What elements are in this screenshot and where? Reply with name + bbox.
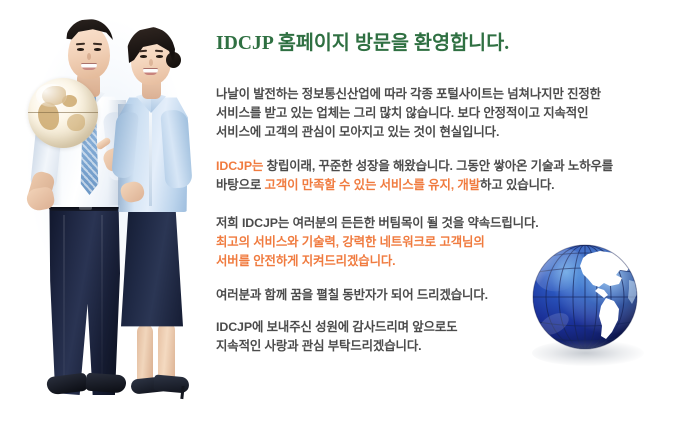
highlighted-text: IDCJP는 [216,159,263,173]
man-trouser-crease-right [101,215,103,375]
body-text: 나날이 발전하는 정보통신산업에 따라 각종 포털사이트는 넘쳐나지만 진정한 [216,87,601,101]
body-text: 하고 있습니다. [480,178,554,192]
text-line: IDCJP는 창립이래, 꾸준한 성장을 해왔습니다. 그동안 쌓아온 기술과 … [216,157,613,176]
desk-globe-landmass-south [67,114,85,131]
paragraph-promise: 저희 IDCJP는 여러분의 든든한 버팀목이 될 것을 약속드립니다.최고의 … [216,214,539,272]
body-text: 서비스에 고객의 관심이 모아지고 있는 것이 현실입니다. [216,125,499,139]
woman-nose [149,59,153,66]
globe-greenland [625,252,636,262]
text-line: 저희 IDCJP는 여러분의 든든한 버팀목이 될 것을 약속드립니다. [216,214,539,233]
woman-skirt [121,208,183,330]
body-text: 바탕으로 [216,178,265,192]
paragraph-intro: 나날이 발전하는 정보통신산업에 따라 각종 포털사이트는 넘쳐나지만 진정한서… [216,85,601,143]
text-line: 서버를 안전하게 지켜드리겠습니다. [216,252,539,271]
text-line: 나날이 발전하는 정보통신산업에 따라 각종 포털사이트는 넘쳐나지만 진정한 [216,85,601,104]
body-text: 창립이래, 꾸준한 성장을 해왔습니다. 그동안 쌓아온 기술과 노하우를 [263,159,613,173]
desk-globe-equator-line [28,112,98,113]
highlighted-text: 최고의 서비스와 기술력, 강력한 네트워크로 고객님의 [216,235,485,249]
man-eye-left [77,48,84,51]
highlighted-text: 고객이 만족할 수 있는 서비스를 유지, 개발 [265,178,481,192]
text-line: 서비스를 받고 있는 업체는 그리 많치 않습니다. 보다 안정적이고 지속적인 [216,104,601,123]
paragraph-thanks: IDCJP에 보내주신 성원에 감사드리며 앞으로도지속적인 사랑과 관심 부탁… [216,318,457,356]
paragraph-growth: IDCJP는 창립이래, 꾸준한 성장을 해왔습니다. 그동안 쌓아온 기술과 … [216,157,613,195]
business-couple-photo [0,0,215,431]
man-eye-right [94,48,101,51]
body-text: 여러분과 함께 꿈을 펼칠 동반자가 되어 드리겠습니다. [216,288,488,302]
woman-blouse-placket [149,106,152,206]
text-line: 바탕으로 고객이 만족할 수 있는 서비스를 유지, 개발하고 있습니다. [216,176,613,195]
antique-desk-globe [28,78,98,148]
body-text: IDCJP에 보내주신 성원에 감사드리며 앞으로도 [216,320,457,334]
text-line: 지속적인 사랑과 관심 부탁드리겠습니다. [216,337,457,356]
woman-leg-left [137,324,153,384]
welcome-page: IDCJP 홈페이지 방문을 환영합니다. 나날이 발전하는 정보통신산업에 따… [0,0,680,431]
text-line: IDCJP에 보내주신 성원에 감사드리며 앞으로도 [216,318,457,337]
text-line: 여러분과 함께 꿈을 펼칠 동반자가 되어 드리겠습니다. [216,286,488,305]
woman-smile [143,68,158,75]
man-shoe-right [85,373,126,394]
globe-drop-shadow [532,340,644,366]
woman-eye-left [140,55,147,58]
text-line: 서비스에 고객의 관심이 모아지고 있는 것이 현실입니다. [216,123,601,142]
text-line: 최고의 서비스와 기술력, 강력한 네트워크로 고객님의 [216,233,539,252]
man-nose [87,53,91,60]
body-text: 지속적인 사랑과 관심 부탁드리겠습니다. [216,339,421,353]
blue-earth-globe [530,244,648,369]
man-trouser-crease-left [63,215,65,380]
page-title: IDCJP 홈페이지 방문을 환영합니다. [216,26,509,55]
paragraph-partner: 여러분과 함께 꿈을 펼칠 동반자가 되어 드리겠습니다. [216,286,488,305]
body-text: 저희 IDCJP는 여러분의 든든한 버팀목이 될 것을 약속드립니다. [216,216,539,230]
woman-sleeve-right [160,109,192,189]
man-smile [81,63,97,70]
woman-eye-right [156,55,163,58]
highlighted-text: 서버를 안전하게 지켜드리겠습니다. [216,254,396,268]
body-text: 서비스를 받고 있는 업체는 그리 많치 않습니다. 보다 안정적이고 지속적인 [216,106,588,120]
